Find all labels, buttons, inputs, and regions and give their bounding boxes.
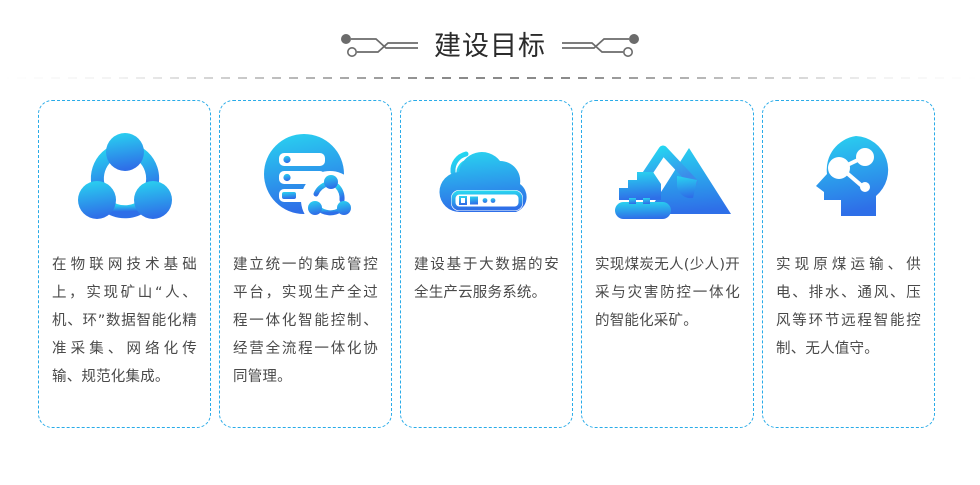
circuit-line-right-icon <box>560 31 640 61</box>
goal-card[interactable]: 实现原煤运输、供电、排水、通风、压风等环节远程智能控制、无人值守。 <box>762 100 935 428</box>
server-share-icon <box>220 101 391 251</box>
goal-card-text: 实现煤炭无人(少人)开采与灾害防控一体化的智能化采矿。 <box>582 251 753 335</box>
page-header: 建设目标 <box>0 24 980 80</box>
goal-card[interactable]: 实现煤炭无人(少人)开采与灾害防控一体化的智能化采矿。 <box>581 100 754 428</box>
network-three-node-icon <box>39 101 210 251</box>
goal-card-list: 在物联网技术基础上，实现矿山“人、机、环”数据智能化精准采集、网络化传输、规范化… <box>38 100 942 428</box>
goal-card-text: 建立统一的集成管控平台，实现生产全过程一体化智能控制、经营全流程一体化协同管理。 <box>220 251 391 391</box>
goal-card[interactable]: 建立统一的集成管控平台，实现生产全过程一体化智能控制、经营全流程一体化协同管理。 <box>219 100 392 428</box>
title-row: 建设目标 <box>0 24 980 68</box>
excavator-mountain-icon <box>582 101 753 251</box>
goal-card[interactable]: 在物联网技术基础上，实现矿山“人、机、环”数据智能化精准采集、网络化传输、规范化… <box>38 100 211 428</box>
dashed-divider <box>0 77 980 79</box>
page-title: 建设目标 <box>434 33 546 60</box>
head-molecule-ai-icon <box>763 101 934 251</box>
goal-card-text: 在物联网技术基础上，实现矿山“人、机、环”数据智能化精准采集、网络化传输、规范化… <box>39 251 210 391</box>
page-root: 建设目标 <box>0 0 980 485</box>
goal-card[interactable]: 建设基于大数据的安全生产云服务系统。 <box>400 100 573 428</box>
goal-card-text: 实现原煤运输、供电、排水、通风、压风等环节远程智能控制、无人值守。 <box>763 251 934 363</box>
circuit-line-left-icon <box>340 31 420 61</box>
cloud-server-wifi-icon <box>401 101 572 251</box>
goal-card-text: 建设基于大数据的安全生产云服务系统。 <box>401 251 572 307</box>
